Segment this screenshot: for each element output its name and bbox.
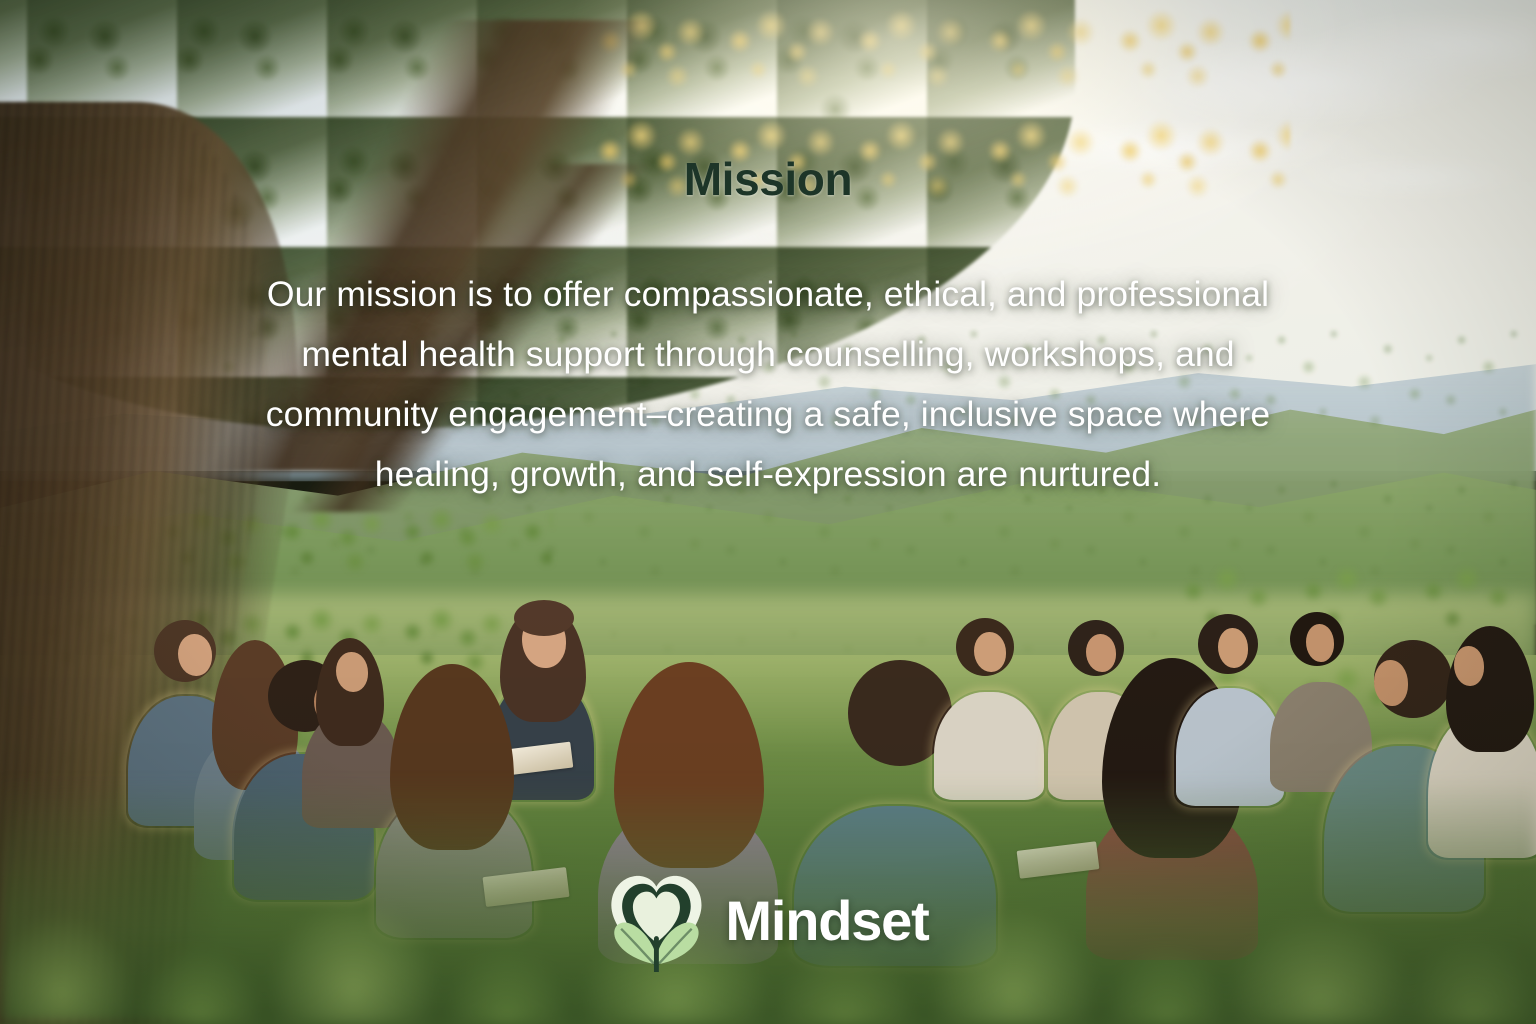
mission-body-text: Our mission is to offer compassionate, e…: [223, 264, 1313, 504]
mission-slide: Mission Our mission is to offer compassi…: [0, 0, 1536, 1024]
brand-logo: Mindset: [607, 868, 928, 972]
heart-sprout-icon: [607, 868, 705, 972]
logo-wordmark: Mindset: [725, 888, 928, 953]
page-title: Mission: [684, 152, 852, 206]
